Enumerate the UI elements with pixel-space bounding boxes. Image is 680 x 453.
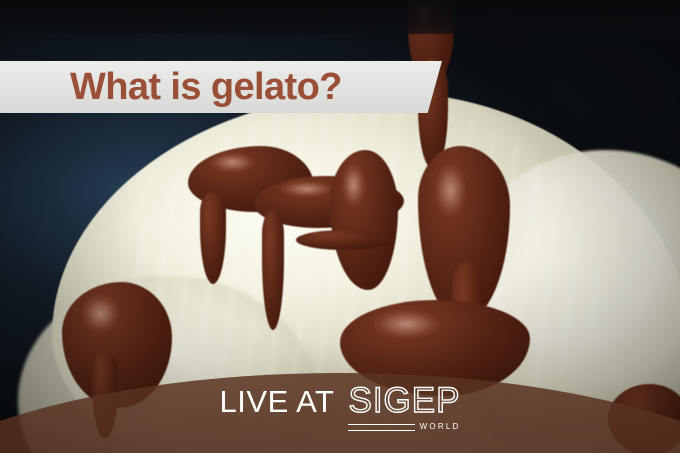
- slide-canvas: What is gelato? LIVE AT SIGEP WORLD: [0, 0, 680, 453]
- footer-brand-lockup: LIVE AT SIGEP WORLD: [0, 383, 680, 431]
- headline-banner: What is gelato?: [0, 61, 442, 113]
- sigep-world-label: WORLD: [420, 423, 461, 431]
- sigep-double-rule: [348, 424, 414, 431]
- sigep-sublockup: WORLD: [348, 423, 460, 431]
- sigep-wordmark: SIGEP: [348, 383, 460, 418]
- top-scrim: [0, 0, 680, 34]
- sigep-logo: SIGEP WORLD: [348, 383, 460, 431]
- live-at-label: LIVE AT: [220, 383, 335, 417]
- page-title: What is gelato?: [0, 68, 342, 106]
- chocolate-strand: [296, 230, 392, 250]
